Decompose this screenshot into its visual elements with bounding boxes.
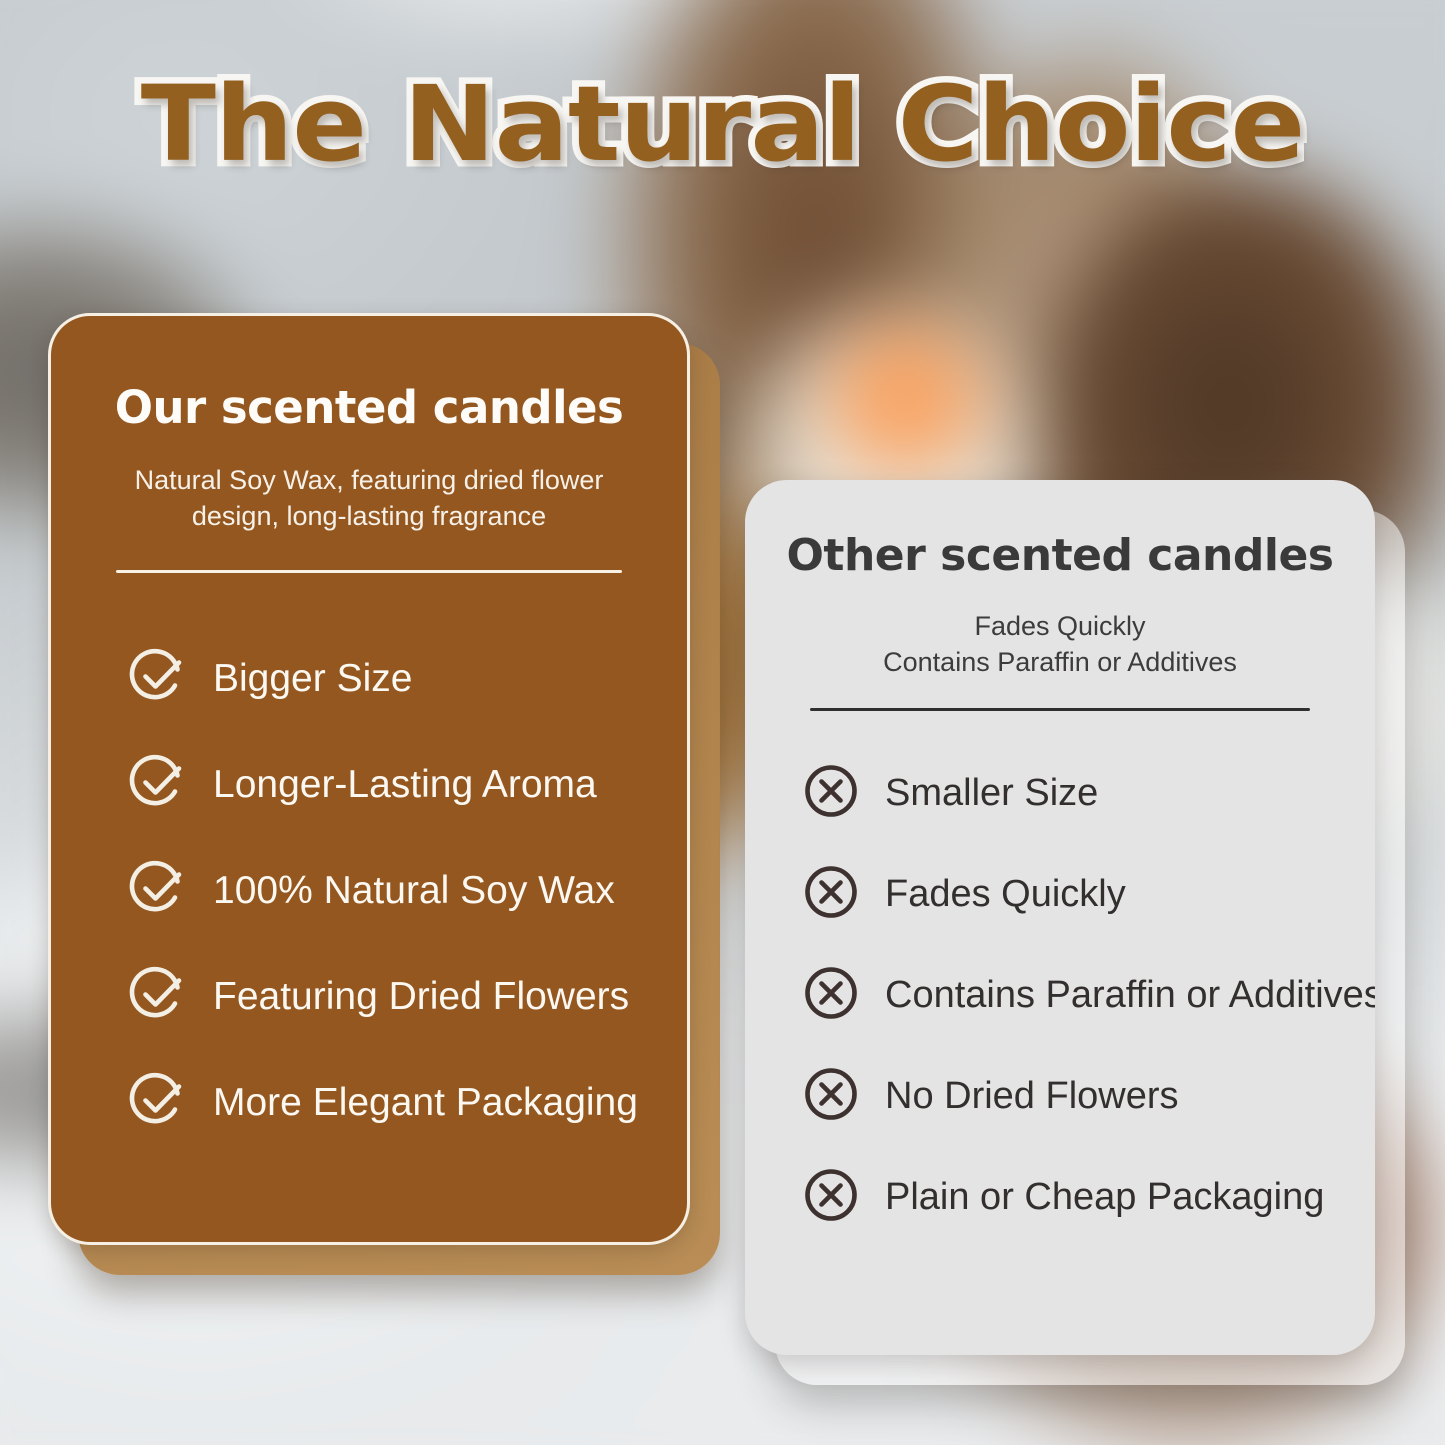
our-candles-card: Our scented candles Natural Soy Wax, fea…	[48, 313, 690, 1245]
our-candles-divider	[116, 570, 622, 573]
check-circle-icon	[129, 647, 187, 710]
list-item-label: More Elegant Packaging	[213, 1081, 638, 1125]
list-item: Bigger Size	[129, 647, 687, 710]
list-item-label: Plain or Cheap Packaging	[885, 1176, 1324, 1219]
other-candles-header: Other scented candles Fades Quickly Cont…	[745, 530, 1375, 711]
other-candles-divider	[810, 708, 1310, 711]
list-item-label: No Dried Flowers	[885, 1075, 1179, 1118]
list-item-label: Longer-Lasting Aroma	[213, 763, 597, 807]
x-circle-icon	[803, 1167, 859, 1228]
list-item-label: Fades Quickly	[885, 873, 1126, 916]
list-item-label: Featuring Dried Flowers	[213, 975, 629, 1019]
list-item: Fades Quickly	[803, 864, 1375, 925]
list-item: Smaller Size	[803, 763, 1375, 824]
our-candles-header: Our scented candles Natural Soy Wax, fea…	[51, 381, 687, 573]
list-item: 100% Natural Soy Wax	[129, 859, 687, 922]
comparison-infographic: The Natural Choice Our scented candles N…	[0, 0, 1445, 1445]
check-circle-icon	[129, 859, 187, 922]
list-item-label: Contains Paraffin or Additives	[885, 974, 1375, 1017]
page-title: The Natural Choice	[0, 72, 1445, 176]
check-circle-icon	[129, 753, 187, 816]
list-item: More Elegant Packaging	[129, 1071, 687, 1134]
x-circle-icon	[803, 763, 859, 824]
other-candles-subtitle-line-2: Contains Paraffin or Additives	[805, 645, 1315, 681]
other-candles-drawback-list: Smaller Size Fades Quickly	[745, 763, 1375, 1228]
list-item: Featuring Dried Flowers	[129, 965, 687, 1028]
x-circle-icon	[803, 864, 859, 925]
check-circle-icon	[129, 1071, 187, 1134]
x-circle-icon	[803, 965, 859, 1026]
list-item: Plain or Cheap Packaging	[803, 1167, 1375, 1228]
list-item: No Dried Flowers	[803, 1066, 1375, 1127]
our-candles-heading: Our scented candles	[51, 381, 687, 434]
other-candles-card: Other scented candles Fades Quickly Cont…	[745, 480, 1375, 1355]
our-candles-benefit-list: Bigger Size Longer-Lasting Aroma	[51, 647, 687, 1134]
list-item-label: 100% Natural Soy Wax	[213, 869, 615, 913]
background-blob-flame	[820, 320, 990, 480]
list-item-label: Bigger Size	[213, 657, 412, 701]
check-circle-icon	[129, 965, 187, 1028]
our-candles-subtitle: Natural Soy Wax, featuring dried flower …	[51, 463, 687, 534]
list-item-label: Smaller Size	[885, 772, 1098, 815]
list-item: Contains Paraffin or Additives	[803, 965, 1375, 1026]
list-item: Longer-Lasting Aroma	[129, 753, 687, 816]
other-candles-subtitle-line-1: Fades Quickly	[805, 609, 1315, 645]
other-candles-subtitle: Fades Quickly Contains Paraffin or Addit…	[745, 609, 1375, 680]
other-candles-heading: Other scented candles	[745, 530, 1375, 581]
x-circle-icon	[803, 1066, 859, 1127]
